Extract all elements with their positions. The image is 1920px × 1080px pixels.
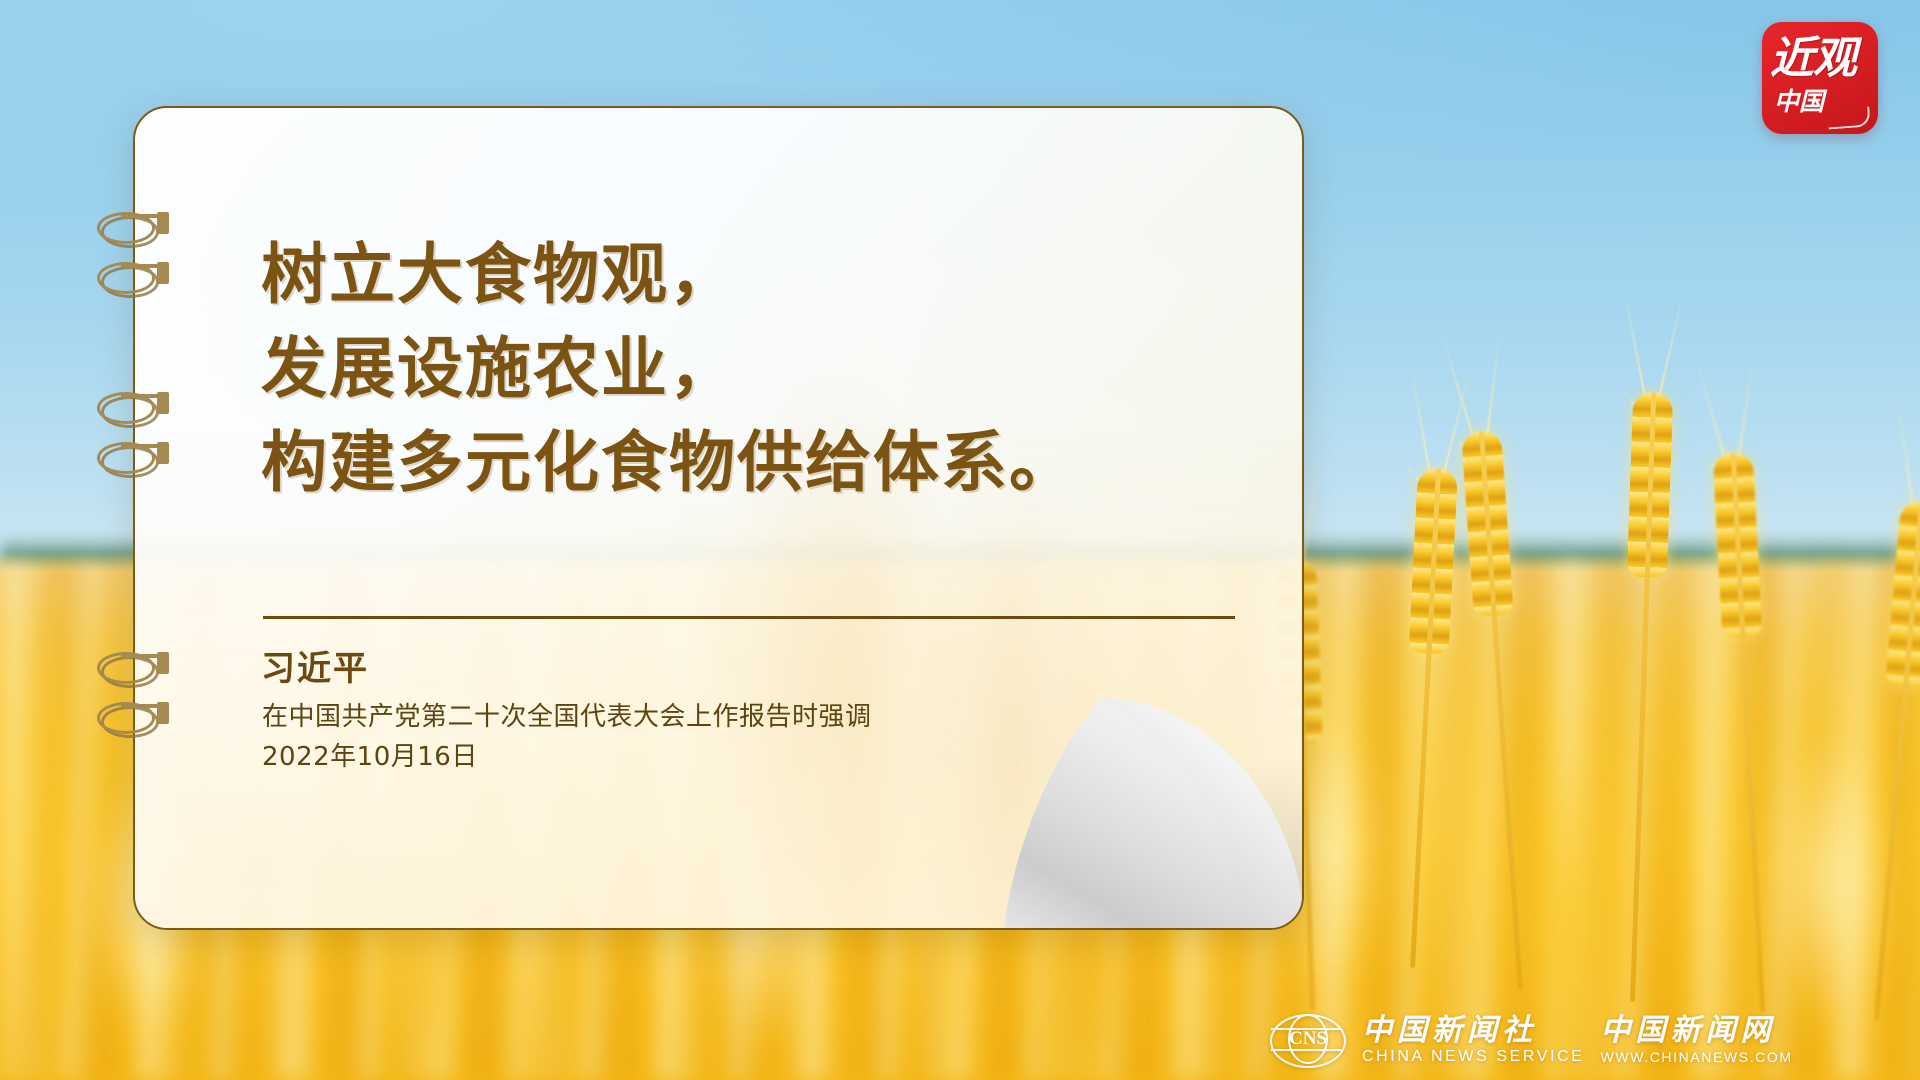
brand-sub-text: 中国 <box>1774 88 1824 116</box>
jinguan-zhongguo-logo[interactable]: 近观 中国 <box>1762 22 1878 134</box>
brand-swirl-icon <box>1827 107 1870 130</box>
poster-canvas: 近观 中国 树立大食物观， 发展设施农业， 构建多元化食物供给体系。 习近平 在… <box>0 0 1920 1080</box>
card-translucency-veil <box>135 108 1302 928</box>
brand-main-text: 近观 <box>1770 36 1870 82</box>
quote-card <box>133 106 1304 930</box>
page-curl-icon <box>1004 698 1304 930</box>
